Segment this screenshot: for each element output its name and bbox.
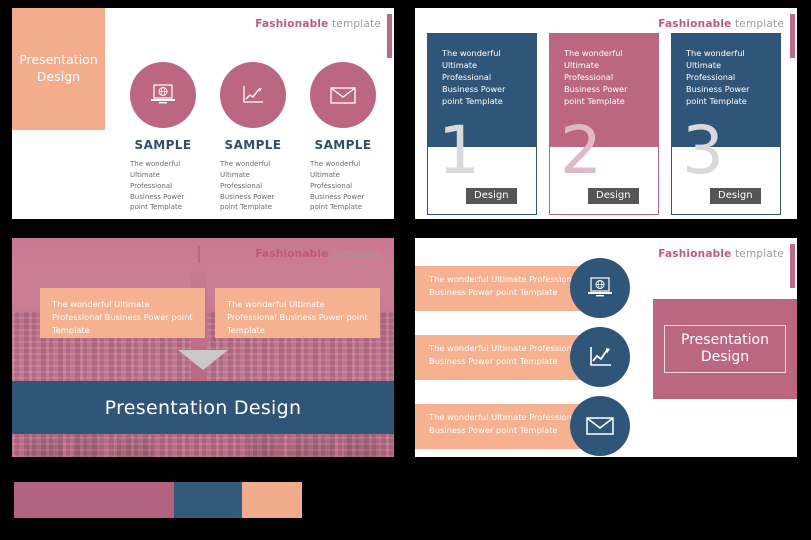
laptop-globe-icon xyxy=(130,62,196,128)
swatch-mauve xyxy=(14,482,174,518)
color-palette-bar xyxy=(14,482,302,518)
line-chart-icon xyxy=(570,327,630,387)
design-button[interactable]: Design xyxy=(710,188,761,204)
card-text: The wonderful Ultimate Professional Busi… xyxy=(550,34,658,147)
card-text: The wonderful Ultimate Professional Busi… xyxy=(428,34,536,147)
feature-rows: The wonderful Ultimate Professional Busi… xyxy=(415,258,665,457)
feature-desc: The wonderful Ultimate Professional Busi… xyxy=(304,159,382,213)
brand-accent-bar xyxy=(790,244,795,288)
numbered-card[interactable]: The wonderful Ultimate Professional Busi… xyxy=(549,33,659,215)
brand-label: Fashionable template xyxy=(658,248,784,260)
feature-column[interactable]: SAMPLE The wonderful Ultimate Profession… xyxy=(124,62,202,213)
brand-bold: Fashionable xyxy=(255,248,328,260)
brand-light: template xyxy=(731,18,784,30)
feature-row[interactable]: The wonderful Ultimate Professional Busi… xyxy=(415,258,665,327)
text-boxes: The wonderful Ultimate Professional Busi… xyxy=(40,288,380,338)
info-box[interactable]: The wonderful Ultimate Professional Busi… xyxy=(40,288,205,338)
feature-title: SAMPLE xyxy=(304,138,382,152)
feature-column[interactable]: SAMPLE The wonderful Ultimate Profession… xyxy=(304,62,382,213)
line-chart-icon xyxy=(220,62,286,128)
presentation-design-band: Presentation Design xyxy=(12,381,394,434)
brand-label: Fashionable template xyxy=(255,248,381,260)
feature-title: SAMPLE xyxy=(214,138,292,152)
brand-bold: Fashionable xyxy=(255,18,328,30)
feature-column[interactable]: SAMPLE The wonderful Ultimate Profession… xyxy=(214,62,292,213)
slide-gallery: Fashionable template Presentation Design xyxy=(0,0,811,540)
slide-2[interactable]: Fashionable template The wonderful Ultim… xyxy=(415,8,797,219)
brand-light: template xyxy=(731,248,784,260)
feature-row[interactable]: The wonderful Ultimate Professional Busi… xyxy=(415,396,665,457)
laptop-globe-icon xyxy=(570,258,630,318)
feature-desc: The wonderful Ultimate Professional Busi… xyxy=(124,159,202,213)
card-text: The wonderful Ultimate Professional Busi… xyxy=(672,34,780,147)
down-triangle-icon xyxy=(178,350,228,370)
numbered-card[interactable]: The wonderful Ultimate Professional Busi… xyxy=(671,33,781,215)
swatch-peach xyxy=(242,482,302,518)
feature-columns: SAMPLE The wonderful Ultimate Profession… xyxy=(124,62,382,213)
envelope-icon xyxy=(310,62,376,128)
feature-row[interactable]: The wonderful Ultimate Professional Busi… xyxy=(415,327,665,396)
design-button[interactable]: Design xyxy=(466,188,517,204)
feature-desc: The wonderful Ultimate Professional Busi… xyxy=(214,159,292,213)
slide-3[interactable]: Fashionable template The wonderful Ultim… xyxy=(12,238,394,457)
numbered-cards: The wonderful Ultimate Professional Busi… xyxy=(427,33,781,215)
brand-light: template xyxy=(328,248,381,260)
numbered-card[interactable]: The wonderful Ultimate Professional Busi… xyxy=(427,33,537,215)
brand-accent-bar xyxy=(790,14,795,58)
brand-bold: Fashionable xyxy=(658,18,731,30)
design-button[interactable]: Design xyxy=(588,188,639,204)
brand-bold: Fashionable xyxy=(658,248,731,260)
slide-4[interactable]: Fashionable template The wonderful Ultim… xyxy=(415,238,797,457)
presentation-design-title: Presentation Design xyxy=(664,325,786,373)
presentation-design-block: Presentation Design xyxy=(653,299,797,399)
info-box[interactable]: The wonderful Ultimate Professional Busi… xyxy=(215,288,380,338)
band-title: Presentation Design xyxy=(105,397,302,419)
brand-label: Fashionable template xyxy=(658,18,784,30)
envelope-icon xyxy=(570,396,630,456)
brand-label: Fashionable template xyxy=(255,18,381,30)
brand-light: template xyxy=(328,18,381,30)
feature-title: SAMPLE xyxy=(124,138,202,152)
presentation-design-block: Presentation Design xyxy=(12,8,105,130)
slide-1[interactable]: Fashionable template Presentation Design xyxy=(12,8,394,219)
swatch-blue xyxy=(174,482,242,518)
presentation-design-title: Presentation Design xyxy=(19,52,98,86)
brand-accent-bar xyxy=(387,14,392,58)
